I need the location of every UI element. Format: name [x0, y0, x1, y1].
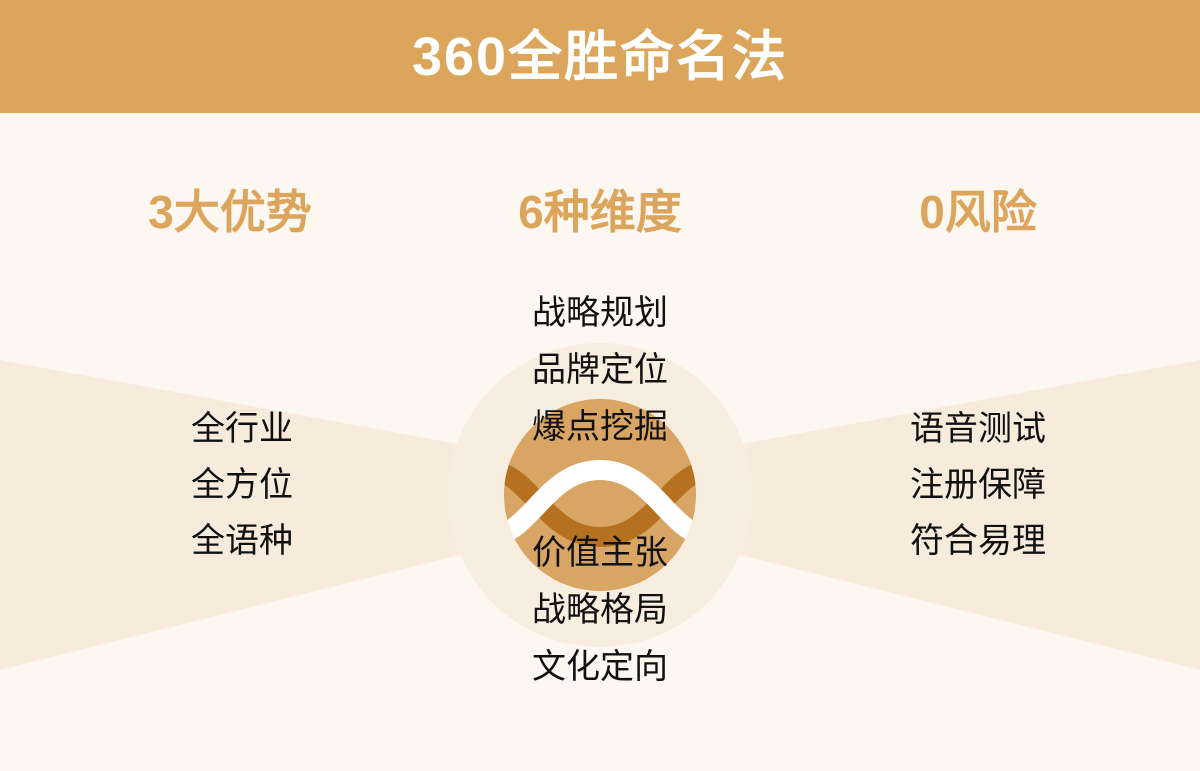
column-list-right: 语音测试 注册保障 符合易理	[910, 412, 1046, 580]
list-item: 全行业	[191, 412, 293, 446]
emblem-wave-light	[488, 470, 712, 537]
column-list-center-top: 战略规划 品牌定位 爆点挖掘	[532, 296, 668, 467]
right-wedge-shape	[600, 360, 1200, 670]
page-title: 360全胜命名法	[412, 30, 788, 84]
list-item: 全语种	[191, 524, 293, 558]
list-item: 符合易理	[910, 524, 1046, 558]
left-wedge-shape	[0, 360, 600, 670]
list-item: 战略规划	[532, 296, 668, 330]
list-item: 语音测试	[910, 412, 1046, 446]
list-item: 品牌定位	[532, 353, 668, 387]
slide-canvas: 360全胜命名法 3大优势 6种维度 0风险 全行业 全方位 全语种 语音测试 …	[0, 0, 1200, 771]
column-list-center-bottom: 价值主张 战略格局 文化定向	[532, 536, 668, 707]
list-item: 注册保障	[910, 468, 1046, 502]
column-heading-left: 3大优势	[148, 189, 312, 235]
list-item: 文化定向	[532, 650, 668, 684]
list-item: 战略格局	[532, 593, 668, 627]
column-heading-center: 6种维度	[518, 189, 682, 235]
column-heading-right: 0风险	[919, 189, 1037, 235]
list-item: 价值主张	[532, 536, 668, 570]
emblem-wave-dark	[488, 470, 712, 537]
list-item: 全方位	[191, 468, 293, 502]
header-bar: 360全胜命名法	[0, 0, 1200, 113]
list-item: 爆点挖掘	[532, 410, 668, 444]
column-list-left: 全行业 全方位 全语种	[191, 412, 293, 580]
